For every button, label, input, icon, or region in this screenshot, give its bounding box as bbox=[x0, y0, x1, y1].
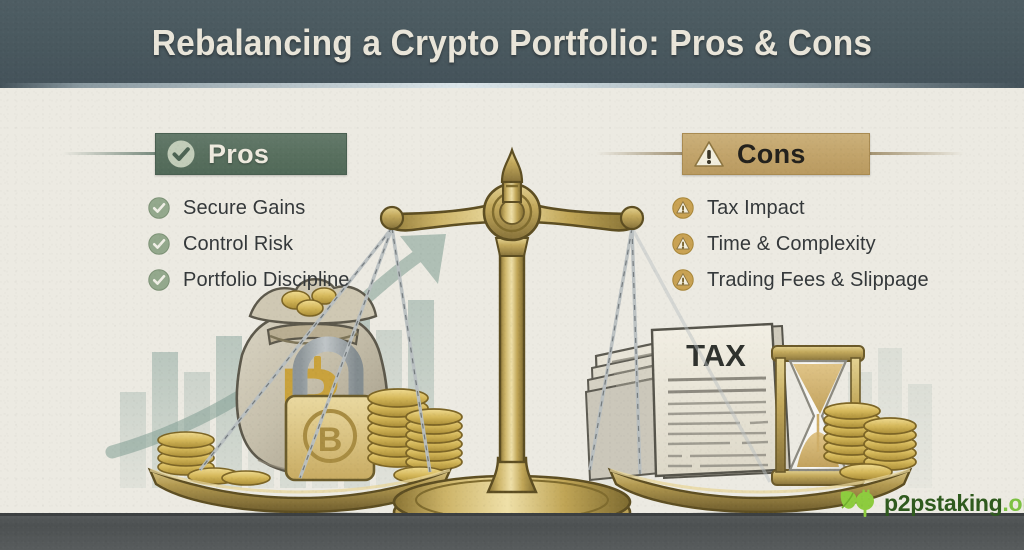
page-title: Rebalancing a Crypto Portfolio: Pros & C… bbox=[36, 22, 988, 64]
padlock-bitcoin-icon: B bbox=[286, 344, 374, 480]
scale-frame bbox=[381, 150, 643, 538]
pros-pan-contents: B bbox=[158, 279, 462, 485]
list-item-label: Secure Gains bbox=[183, 197, 305, 220]
bg-bars-left bbox=[120, 300, 434, 488]
list-item: Portfolio Discipline bbox=[148, 262, 350, 298]
check-circle-icon bbox=[148, 197, 170, 219]
bg-bars-right bbox=[596, 348, 932, 488]
cons-badge-label: Cons bbox=[737, 139, 806, 170]
gold-coin-stack-icon bbox=[158, 432, 270, 485]
pros-section-badge: Pros bbox=[155, 133, 347, 175]
leaf-plug-icon bbox=[838, 486, 878, 520]
list-item-label: Tax Impact bbox=[707, 197, 805, 220]
list-item-label: Trading Fees & Slippage bbox=[707, 269, 929, 292]
check-circle-icon bbox=[148, 233, 170, 255]
header-bar: Rebalancing a Crypto Portfolio: Pros & C… bbox=[0, 0, 1024, 88]
list-item-label: Control Risk bbox=[183, 233, 293, 256]
bitcoin-symbol: B bbox=[279, 350, 345, 452]
logo-brand-text: p2pstaking bbox=[884, 490, 1002, 516]
divider-center-right bbox=[596, 152, 684, 155]
cons-list: Tax Impact Time & Complexity Trading Fee… bbox=[672, 190, 929, 298]
svg-text:B: B bbox=[279, 350, 345, 452]
list-item-label: Time & Complexity bbox=[707, 233, 876, 256]
tax-document-icon: TAX bbox=[652, 324, 790, 478]
warning-triangle-icon bbox=[672, 197, 694, 219]
svg-text:B: B bbox=[318, 421, 343, 459]
list-item: Control Risk bbox=[148, 226, 350, 262]
logo-tld-text: .org bbox=[1002, 490, 1024, 516]
list-item: Tax Impact bbox=[672, 190, 929, 226]
list-item-label: Portfolio Discipline bbox=[183, 269, 350, 292]
check-circle-icon bbox=[166, 139, 196, 169]
check-circle-icon bbox=[148, 269, 170, 291]
warning-triangle-icon bbox=[693, 139, 725, 169]
pros-badge-label: Pros bbox=[208, 139, 269, 170]
logo-brand: p2pstaking.org bbox=[884, 490, 1024, 517]
list-item: Secure Gains bbox=[148, 190, 350, 226]
gold-coin-stack-icon bbox=[368, 389, 462, 483]
warning-triangle-icon bbox=[672, 233, 694, 255]
tax-document-label: TAX bbox=[686, 338, 746, 373]
hourglass-icon bbox=[772, 346, 864, 485]
warning-triangle-icon bbox=[672, 269, 694, 291]
divider-right bbox=[868, 152, 964, 155]
divider-left bbox=[62, 152, 158, 155]
infographic-canvas: B bbox=[0, 0, 1024, 550]
site-logo[interactable]: p2pstaking.org bbox=[838, 486, 1024, 520]
paper-stack-icon bbox=[586, 338, 688, 480]
pros-list: Secure Gains Control Risk Portfolio Disc… bbox=[148, 190, 350, 298]
cons-section-badge: Cons bbox=[682, 133, 870, 175]
gold-coin-stack-icon bbox=[824, 403, 916, 480]
money-bag-bitcoin-icon: B bbox=[237, 279, 387, 474]
cons-pan-contents: TAX bbox=[586, 324, 916, 485]
list-item: Time & Complexity bbox=[672, 226, 929, 262]
list-item: Trading Fees & Slippage bbox=[672, 262, 929, 298]
pros-pan bbox=[150, 470, 450, 512]
